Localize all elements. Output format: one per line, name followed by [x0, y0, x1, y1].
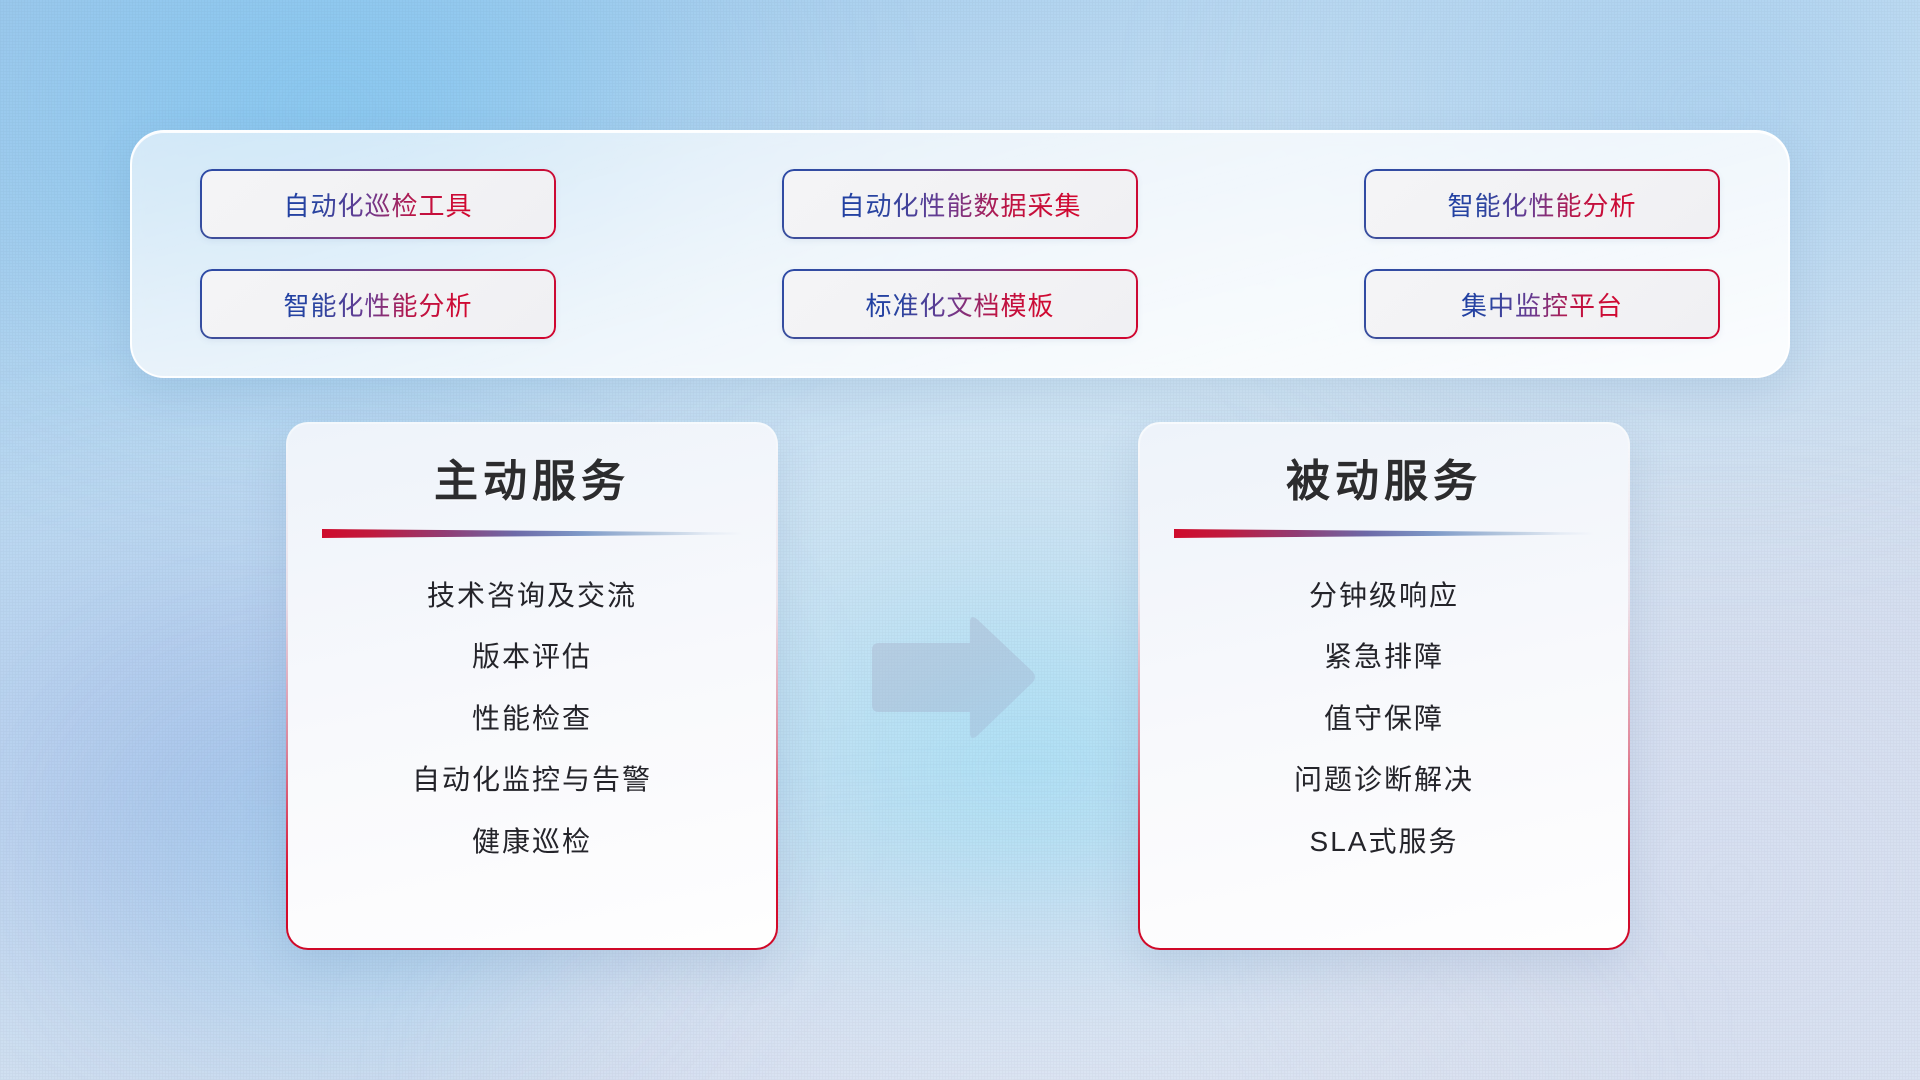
capability-tag-panel: 自动化巡检工具 自动化性能数据采集 智能化性能分析 智能化性能分析 标准化文档模… [130, 130, 1790, 378]
list-item: SLA式服务 [1310, 824, 1459, 860]
list-item: 自动化监控与告警 [412, 762, 652, 798]
capability-tag[interactable]: 自动化巡检工具 [200, 169, 556, 239]
list-item: 分钟级响应 [1309, 578, 1459, 614]
capability-tag[interactable]: 集中监控平台 [1364, 269, 1720, 339]
list-item: 技术咨询及交流 [427, 578, 637, 614]
list-item: 值守保障 [1324, 701, 1444, 737]
capability-tag[interactable]: 智能化性能分析 [1364, 169, 1720, 239]
capability-tag-label: 智能化性能分析 [283, 286, 472, 323]
list-item: 性能检查 [472, 701, 592, 737]
service-card-passive: 被动服务 分钟级响应 紧急排障 值守保障 问题诊断解决 SLA式服务 [1138, 422, 1630, 950]
capability-tag-label: 智能化性能分析 [1447, 186, 1636, 223]
service-card-active-title: 主动服务 [434, 454, 630, 509]
capability-tag[interactable]: 标准化文档模板 [782, 269, 1138, 339]
service-card-passive-body: 被动服务 分钟级响应 紧急排障 值守保障 问题诊断解决 SLA式服务 [1140, 424, 1628, 948]
title-divider [1174, 529, 1594, 538]
capability-tag-label: 集中监控平台 [1461, 286, 1623, 323]
tag-row-1: 自动化巡检工具 自动化性能数据采集 智能化性能分析 [200, 169, 1720, 239]
service-card-active: 主动服务 技术咨询及交流 版本评估 性能检查 自动化监控与告警 健康巡检 [286, 422, 778, 950]
list-item: 紧急排障 [1324, 639, 1444, 675]
capability-tag-label: 标准化文档模板 [865, 286, 1054, 323]
capability-tag-label: 自动化巡检工具 [283, 186, 472, 223]
capability-tag[interactable]: 自动化性能数据采集 [782, 169, 1138, 239]
service-card-active-list: 技术咨询及交流 版本评估 性能检查 自动化监控与告警 健康巡检 [288, 578, 776, 860]
capability-tag[interactable]: 智能化性能分析 [200, 269, 556, 339]
service-card-passive-list: 分钟级响应 紧急排障 值守保障 问题诊断解决 SLA式服务 [1140, 578, 1628, 860]
flow-arrow [868, 612, 1038, 744]
right-arrow-icon [868, 612, 1038, 744]
list-item: 健康巡检 [472, 824, 592, 860]
list-item: 版本评估 [472, 639, 592, 675]
service-card-active-body: 主动服务 技术咨询及交流 版本评估 性能检查 自动化监控与告警 健康巡检 [288, 424, 776, 948]
list-item: 问题诊断解决 [1294, 762, 1474, 798]
capability-tag-label: 自动化性能数据采集 [838, 186, 1081, 223]
tag-row-2: 智能化性能分析 标准化文档模板 集中监控平台 [200, 269, 1720, 339]
service-card-passive-title: 被动服务 [1286, 454, 1482, 509]
title-divider [322, 529, 742, 538]
